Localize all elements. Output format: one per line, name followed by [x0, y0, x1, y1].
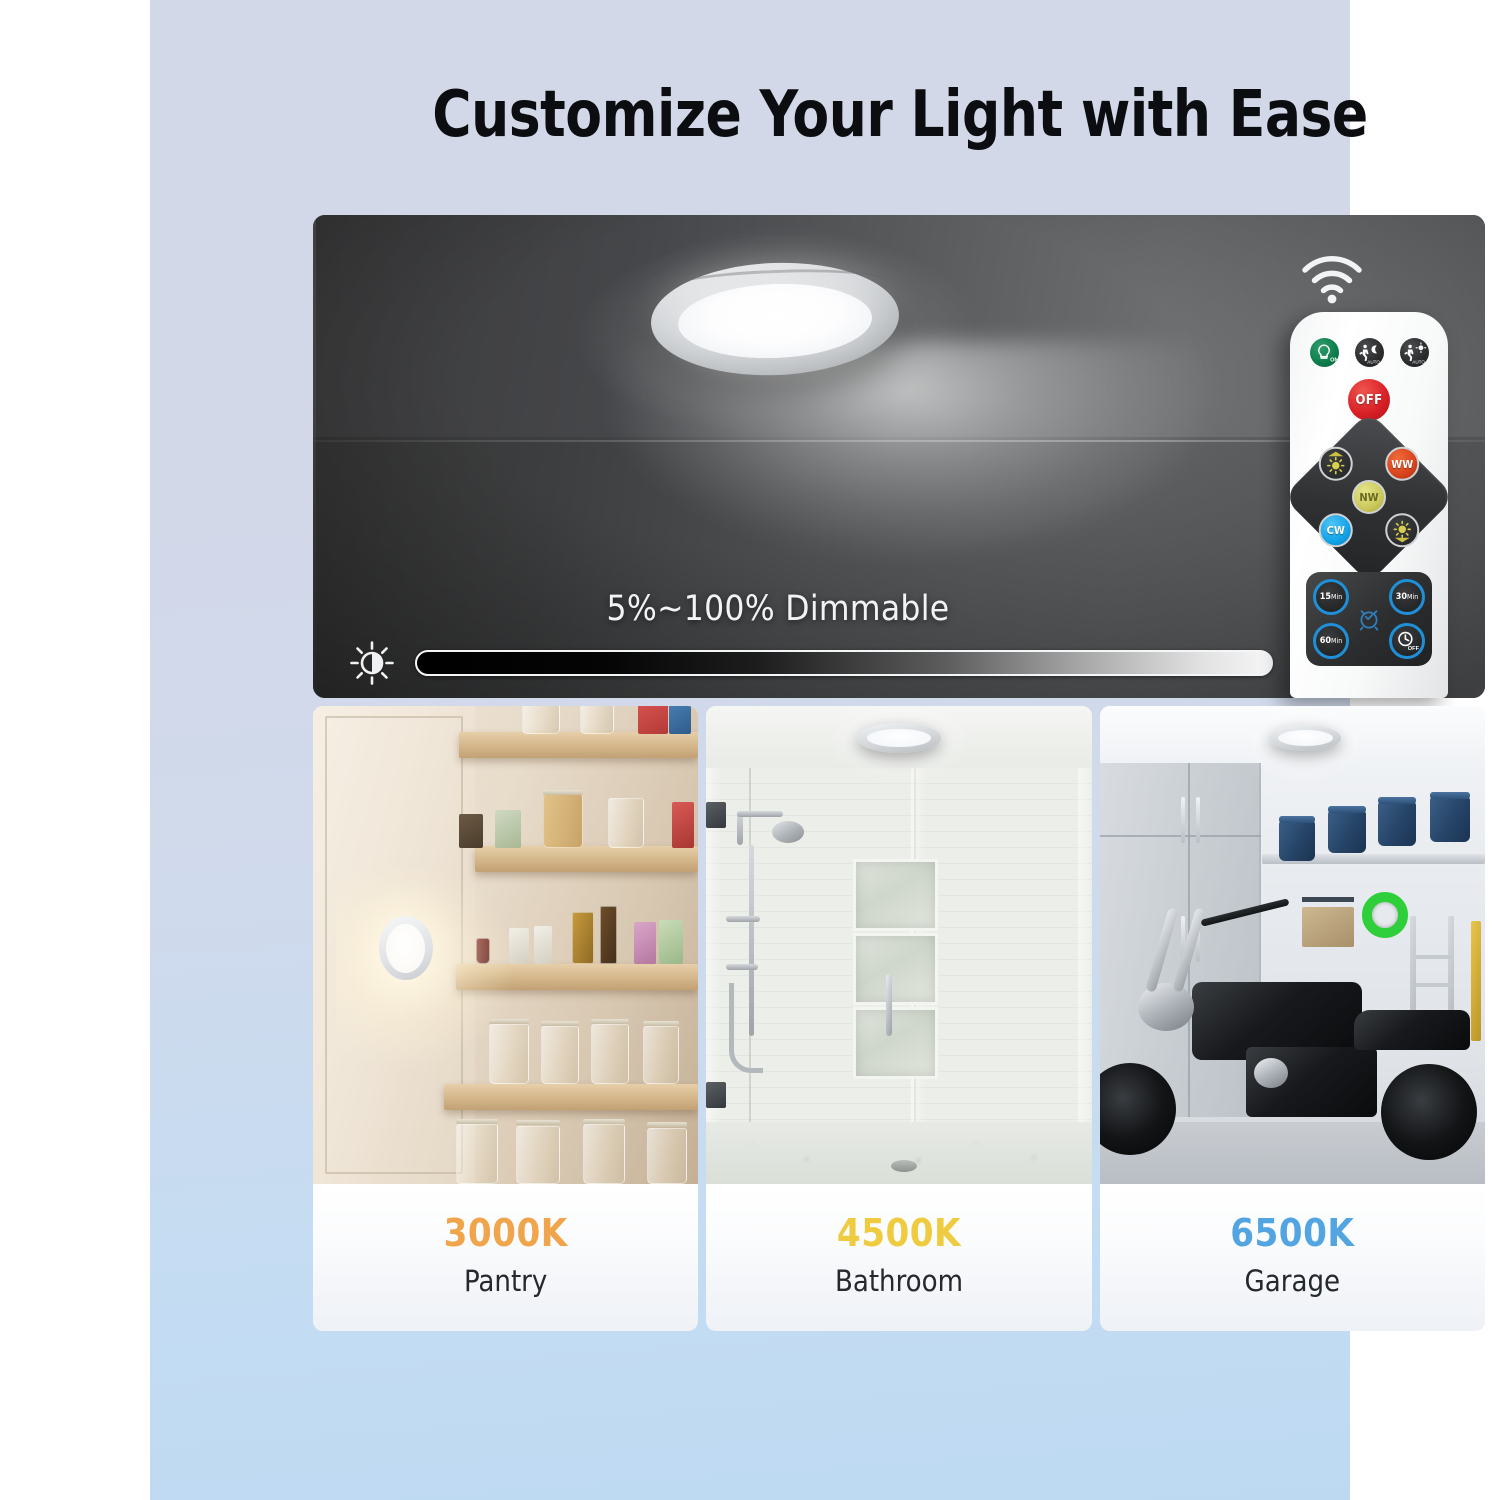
brightness-up-button[interactable]	[1385, 513, 1419, 547]
timer-60min-button[interactable]: 60Min	[1313, 623, 1349, 659]
garage-photo	[1100, 706, 1485, 1184]
bathroom-caption: 4500K Bathroom	[706, 1184, 1091, 1331]
remote-auto-night-button[interactable]: AUTO	[1355, 338, 1384, 367]
garage-room: Garage	[1245, 1264, 1341, 1298]
bathroom-niche-bottom	[853, 1007, 938, 1079]
shower-valve-arm	[726, 916, 760, 922]
storage-bin-lid	[1328, 806, 1366, 813]
pantry-jar-lid	[456, 1119, 498, 1124]
timer-30min-unit: Min	[1407, 593, 1418, 601]
storage-bin	[1430, 797, 1470, 842]
bathroom-glass-door-edge	[1078, 768, 1092, 1122]
pantry-caption: 3000K Pantry	[313, 1184, 698, 1331]
brightness-down-button[interactable]	[1319, 447, 1353, 481]
bathroom-pebble-floor	[706, 1122, 1091, 1184]
remote-off-row: OFF	[1302, 379, 1436, 421]
pantry-jar-lid	[643, 1021, 679, 1026]
motion-sensor-night-icon: AUTO	[1356, 340, 1382, 366]
pantry-jar	[543, 794, 583, 848]
pantry-jar	[591, 1024, 629, 1084]
pantry-shelf-4	[444, 1084, 698, 1110]
cool-white-button[interactable]: CW	[1319, 513, 1353, 547]
shower-valve-arm	[726, 964, 758, 970]
remote-top-row: ON AUTO	[1302, 338, 1436, 367]
motorcycle-seat	[1354, 1010, 1470, 1050]
pantry-jar-lid	[591, 1019, 629, 1024]
scene-card-bathroom[interactable]: 4500K Bathroom	[706, 706, 1091, 1331]
bathroom-ceiling-light	[857, 723, 941, 753]
motion-sensor-day-icon: AUTO	[1401, 340, 1427, 366]
svg-text:ON: ON	[1330, 357, 1337, 363]
alarm-clock-icon	[1356, 606, 1382, 632]
storage-bin-lid	[1378, 797, 1416, 804]
pantry-jar	[643, 1026, 679, 1084]
wifi-icon	[1299, 253, 1365, 305]
bathroom-niche-middle	[853, 933, 938, 1005]
shower-head-icon	[772, 821, 804, 843]
tool-rail	[1302, 897, 1354, 902]
timer-off-button[interactable]: OFF	[1389, 623, 1425, 659]
pantry-box	[459, 814, 483, 848]
remote-off-button[interactable]: OFF	[1348, 379, 1390, 421]
brightness-icon	[349, 640, 395, 686]
garage-ceiling-light	[1269, 725, 1341, 751]
cabinet-handle	[1196, 797, 1200, 843]
pantry-jar-lid	[647, 1122, 687, 1127]
pantry-box	[659, 920, 683, 964]
dimmer-slider[interactable]	[415, 650, 1273, 676]
pantry-bottle	[572, 912, 594, 964]
cabinet-handle	[1181, 797, 1185, 843]
svg-text:AUTO: AUTO	[1367, 359, 1380, 364]
ladder-rung	[1416, 955, 1455, 959]
pantry-jar-lid	[543, 790, 583, 795]
timer-60min-value: 60	[1320, 636, 1331, 646]
page-title: Customize Your Light with Ease	[342, 78, 1458, 152]
pantry-jar-lid	[516, 1120, 560, 1125]
pantry-box	[534, 926, 552, 964]
bathroom-niche-top	[853, 859, 938, 931]
storage-bin	[1328, 811, 1366, 853]
timer-pad: 15Min 30Min 60Min OFF	[1306, 572, 1432, 666]
image-canvas: Customize Your Light with Ease	[150, 0, 1350, 1500]
dimmer-row	[349, 640, 1273, 686]
timer-30min-button[interactable]: 30Min	[1389, 579, 1425, 615]
pantry-box	[669, 706, 691, 734]
svg-text:AUTO: AUTO	[1412, 359, 1425, 364]
timer-60min-unit: Min	[1331, 637, 1342, 645]
storage-bin-lid	[1430, 792, 1470, 799]
tool-pouch	[1302, 907, 1354, 947]
clock-off-icon: OFF	[1395, 629, 1419, 653]
bathroom-photo	[706, 706, 1091, 1184]
motorcycle-rear-wheel	[1381, 1064, 1477, 1160]
shower-hose	[729, 983, 763, 1073]
bathroom-kelvin: 4500K	[837, 1211, 961, 1255]
shower-door-hinge	[706, 802, 726, 828]
pantry-box	[672, 802, 694, 848]
pantry-jar	[456, 1124, 498, 1184]
bathroom-room: Bathroom	[835, 1264, 963, 1298]
remote-on-button[interactable]: ON	[1310, 338, 1339, 367]
timer-15min-unit: Min	[1331, 593, 1342, 601]
dimmer-label: 5%~100% Dimmable	[313, 589, 1243, 629]
pantry-jar	[608, 798, 644, 848]
timer-15min-value: 15	[1320, 592, 1331, 602]
storage-bin-lid	[1279, 816, 1315, 823]
pantry-jar	[522, 706, 560, 734]
garage-caption: 6500K Garage	[1100, 1184, 1485, 1331]
brightness-down-icon	[1322, 450, 1350, 478]
light-bulb-icon: ON	[1311, 340, 1337, 366]
ladder-rung	[1416, 983, 1455, 987]
pantry-jar	[516, 1126, 560, 1184]
garage-kelvin: 6500K	[1230, 1211, 1354, 1255]
bathroom-grab-bar	[886, 974, 892, 1036]
scene-card-garage[interactable]: 6500K Garage	[1100, 706, 1485, 1331]
motorcycle-headlight	[1138, 983, 1194, 1031]
timer-15min-button[interactable]: 15Min	[1313, 579, 1349, 615]
pantry-jar	[541, 1026, 579, 1084]
pantry-wall-light	[379, 916, 433, 980]
led-remote-control: ON AUTO	[1290, 312, 1448, 698]
pantry-jar	[647, 1128, 687, 1184]
warm-white-button[interactable]: WW	[1385, 447, 1419, 481]
neutral-white-button[interactable]: NW	[1352, 480, 1386, 514]
pantry-room: Pantry	[464, 1264, 547, 1298]
timer-30min-value: 30	[1396, 592, 1407, 602]
pantry-jar	[580, 706, 614, 734]
color-temperature-pad: WW NW CW	[1283, 411, 1456, 584]
wall-tool-handle	[1471, 921, 1481, 1041]
pantry-jar-lid	[583, 1119, 625, 1124]
remote-auto-day-button[interactable]: AUTO	[1400, 338, 1429, 367]
pantry-photo	[313, 706, 698, 1184]
pantry-jar	[583, 1124, 625, 1184]
pantry-bottle	[600, 906, 617, 964]
scene-cards: 3000K Pantry	[313, 706, 1485, 1331]
storage-bin	[1378, 802, 1416, 846]
svg-text:OFF: OFF	[1408, 646, 1419, 652]
pantry-jar-lid	[541, 1021, 579, 1026]
storage-bin	[1279, 821, 1315, 861]
pantry-box	[638, 706, 668, 734]
pantry-shelf-1	[459, 732, 698, 758]
pantry-kelvin: 3000K	[444, 1211, 568, 1255]
garden-hose	[1362, 892, 1408, 938]
pantry-box	[634, 922, 656, 964]
brightness-up-icon	[1388, 516, 1416, 544]
pantry-box	[495, 810, 521, 848]
product-feature-image: Customize Your Light with Ease	[0, 0, 1500, 1500]
shower-door-hinge	[706, 1082, 726, 1108]
shower-arm-horizontal	[737, 811, 783, 817]
scene-card-pantry[interactable]: 3000K Pantry	[313, 706, 698, 1331]
